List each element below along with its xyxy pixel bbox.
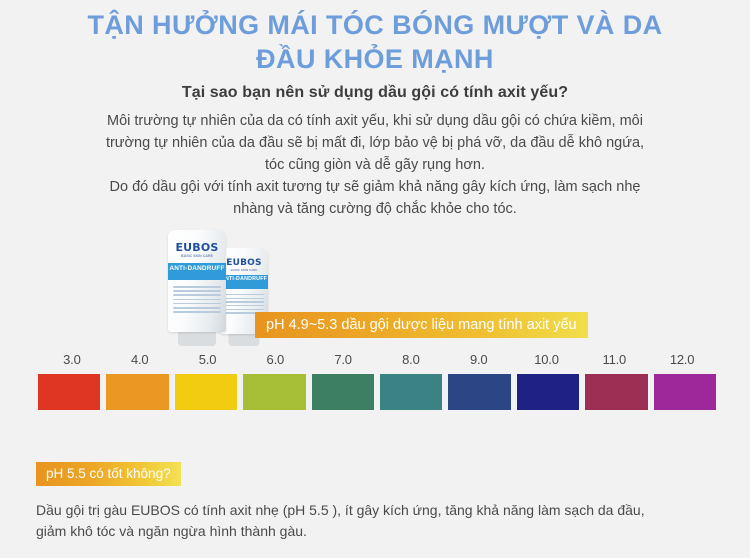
bottle-body-large: EUBOS BASIC SKIN CARE ANTI-DANDRUFF CARE… (168, 230, 226, 332)
ph-tick-label: 11.0 (580, 352, 648, 372)
ph-range-banner: pH 4.9~5.3 dầu gội dược liệu mang tính a… (255, 312, 588, 338)
ph-color-swatch (243, 374, 305, 410)
ph-color-swatch (585, 374, 647, 410)
intro-line-4: Do đó dầu gội với tính axit tương tự sẽ … (45, 176, 705, 198)
ph-tick-label: 3.0 (38, 352, 106, 372)
ph-tick-label: 6.0 (241, 352, 309, 372)
ph-tick-label: 8.0 (377, 352, 445, 372)
intro-line-3: tóc cũng giòn và dễ gãy rụng hơn. (45, 154, 705, 176)
bottle-product-line2-large: CARE SHAMPOO (168, 273, 226, 279)
bottle-product-line1-small: ANTI-DANDRUFF (220, 276, 268, 282)
ph-color-swatch (380, 374, 442, 410)
ph-tick-label: 7.0 (309, 352, 377, 372)
ph-color-swatch (106, 374, 168, 410)
footer-line-2: giảm khô tóc và ngăn ngừa hình thành gàu… (36, 521, 726, 542)
bottle-cap-large (178, 331, 216, 346)
ph-color-swatch (448, 374, 510, 410)
page-root: TẬN HƯỞNG MÁI TÓC BÓNG MƯỢT VÀ DA ĐẦU KH… (0, 0, 750, 558)
intro-line-5: nhàng và tăng cường độ chắc khỏe cho tóc… (45, 198, 705, 220)
page-title: TẬN HƯỞNG MÁI TÓC BÓNG MƯỢT VÀ DA ĐẦU KH… (0, 8, 750, 76)
intro-line-2: trường tự nhiên của da đầu sẽ bị mất đi,… (45, 132, 705, 154)
ph-tick-label: 12.0 (648, 352, 716, 372)
ph-tick-label: 9.0 (445, 352, 513, 372)
ph-color-swatch (175, 374, 237, 410)
ph-tick-label: 10.0 (513, 352, 581, 372)
page-title-line-2: ĐẦU KHỎE MẠNH (0, 42, 750, 76)
ph-scale-tick-labels: 3.04.05.06.07.08.09.010.011.012.0 (38, 352, 716, 372)
page-title-line-1: TẬN HƯỞNG MÁI TÓC BÓNG MƯỢT VÀ DA (0, 8, 750, 42)
ph-color-swatch (312, 374, 374, 410)
ph-tick-label: 5.0 (174, 352, 242, 372)
intro-line-1: Môi trường tự nhiên của da có tính axit … (45, 110, 705, 132)
ph55-question-label: pH 5.5 có tốt không? (36, 462, 181, 486)
shampoo-bottle-large: EUBOS BASIC SKIN CARE ANTI-DANDRUFF CARE… (168, 230, 226, 346)
bottle-product-line1-large: ANTI-DANDRUFF (168, 265, 226, 272)
bottle-brand-large: EUBOS (168, 241, 226, 254)
bottle-product-line2-small: CARE SHAMPOO (220, 283, 268, 288)
bottle-blurb-large (173, 286, 222, 315)
ph-color-swatch (517, 374, 579, 410)
ph-scale-chart: 3.04.05.06.07.08.09.010.011.012.0 (38, 352, 716, 410)
section-subheading: Tại sao bạn nên sử dụng dầu gội có tính … (0, 84, 750, 102)
ph-tick-label: 4.0 (106, 352, 174, 372)
bottle-brand-sub-small: BASIC SKIN CARE (220, 268, 268, 272)
ph-color-swatch (38, 374, 100, 410)
ph-scale-swatches (38, 374, 716, 410)
bottle-brand-small: EUBOS (220, 258, 268, 268)
bottle-brand-sub-large: BASIC SKIN CARE (168, 254, 226, 258)
ph-color-swatch (654, 374, 716, 410)
footer-paragraph: Dầu gội trị gàu EUBOS có tính axit nhẹ (… (36, 500, 726, 542)
intro-paragraph: Môi trường tự nhiên của da có tính axit … (45, 110, 705, 220)
footer-line-1: Dầu gội trị gàu EUBOS có tính axit nhẹ (… (36, 500, 726, 521)
